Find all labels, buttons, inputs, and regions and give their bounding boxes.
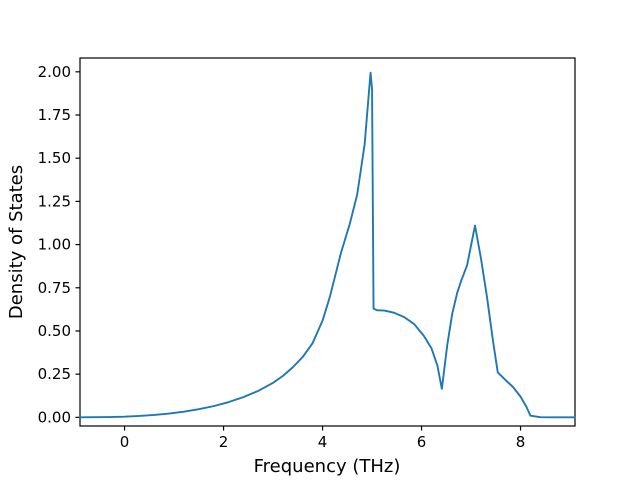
y-tick-label: 1.50 <box>38 149 71 167</box>
y-tick-label: 0.25 <box>38 365 71 383</box>
y-tick-label: 1.00 <box>38 236 71 254</box>
x-tick-label: 2 <box>219 433 229 451</box>
x-tick-label: 8 <box>516 433 526 451</box>
y-tick-label: 1.25 <box>38 192 71 210</box>
y-tick-label: 0.75 <box>38 279 71 297</box>
x-axis-label: Frequency (THz) <box>254 456 401 477</box>
y-axis-label: Density of States <box>6 165 27 319</box>
y-tick-label: 2.00 <box>38 63 71 81</box>
x-tick-label: 4 <box>318 433 328 451</box>
figure-canvas: 02468 0.000.250.500.751.001.251.501.752.… <box>0 0 640 480</box>
x-tick-label: 0 <box>120 433 130 451</box>
y-tick-label: 1.75 <box>38 106 71 124</box>
x-tick-label: 6 <box>417 433 427 451</box>
density-of-states-plot: 02468 0.000.250.500.751.001.251.501.752.… <box>0 0 640 480</box>
figure-background <box>0 0 640 480</box>
y-tick-label: 0.50 <box>38 322 71 340</box>
y-tick-label: 0.00 <box>38 408 71 426</box>
